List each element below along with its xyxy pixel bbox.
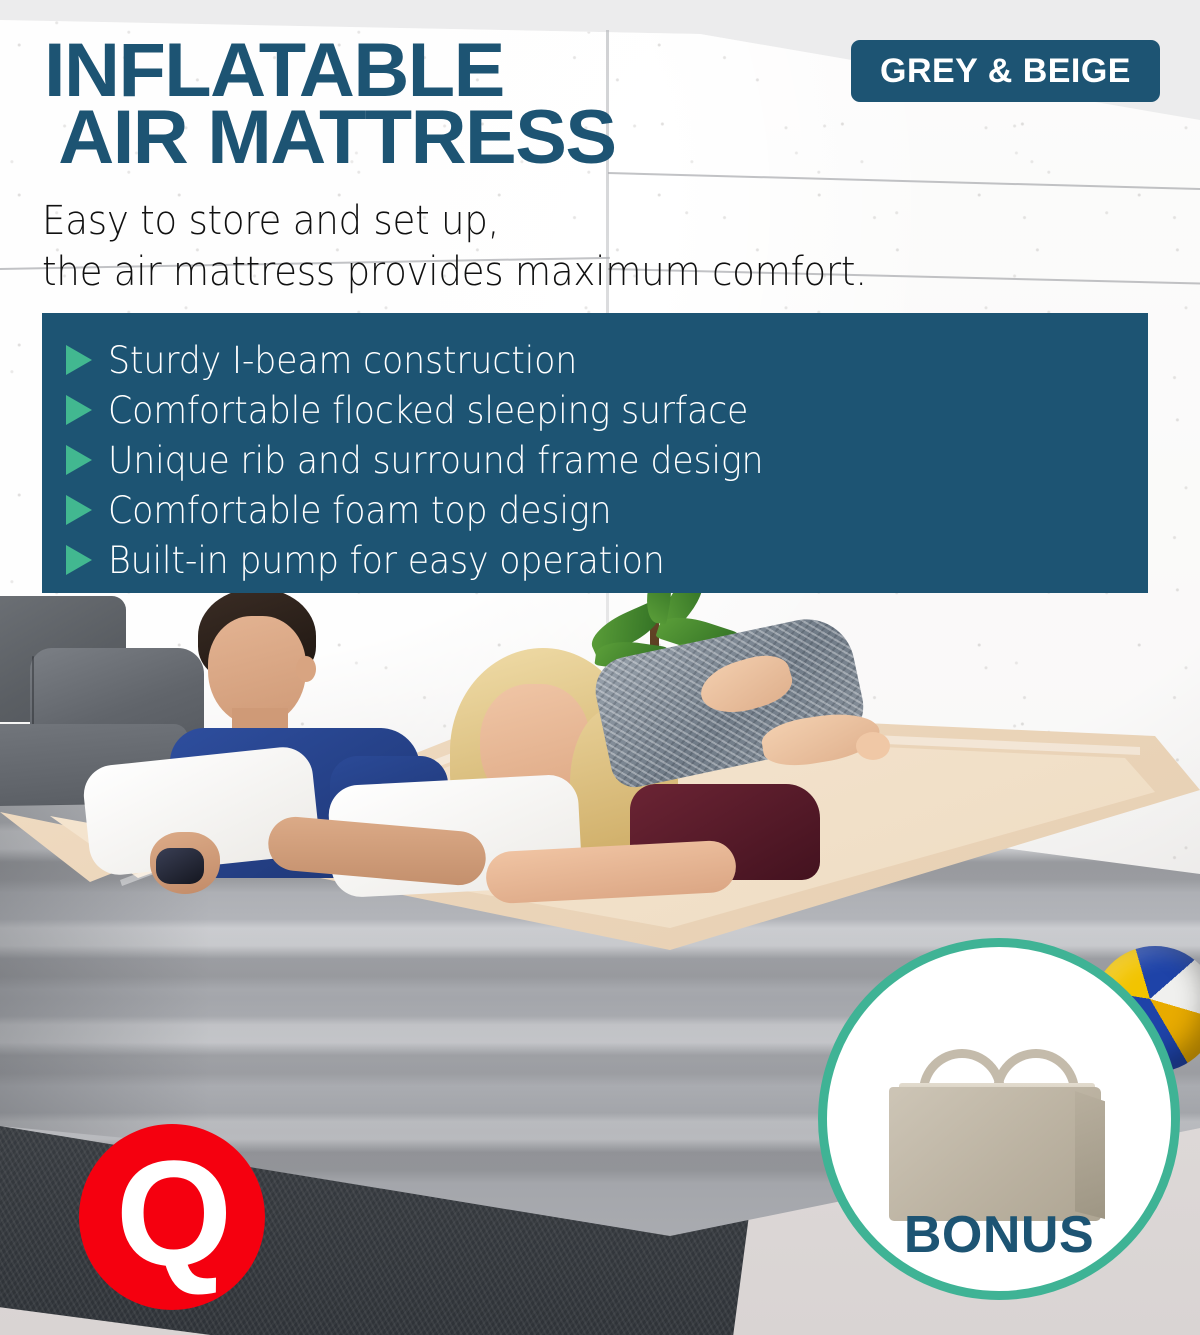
title-line-2: AIR MATTRESS (44, 105, 799, 172)
tote-body (889, 1087, 1101, 1221)
tote-bag (889, 1051, 1107, 1221)
triangle-bullet-icon (66, 445, 92, 475)
subtitle-line-2: the air mattress provides maximum comfor… (42, 247, 981, 298)
feature-item: Comfortable flocked sleeping surface (66, 385, 1148, 435)
subtitle-line-1: Easy to store and set up, (42, 196, 981, 247)
triangle-bullet-icon (66, 495, 92, 525)
feature-label: Comfortable foam top design (108, 492, 611, 529)
bonus-badge[interactable]: BONUS (818, 938, 1180, 1300)
triangle-bullet-icon (66, 395, 92, 425)
triangle-bullet-icon (66, 345, 92, 375)
feature-label: Unique rib and surround frame design (108, 442, 763, 479)
remote-control (156, 848, 204, 884)
brand-logo[interactable]: Q (79, 1124, 265, 1310)
color-variant-label: GREY & BEIGE (880, 52, 1131, 91)
feature-item: Built-in pump for easy operation (66, 535, 1148, 585)
toes (856, 732, 890, 760)
feature-label: Comfortable flocked sleeping surface (108, 392, 748, 429)
advertisement-banner: INFLATABLE AIR MATTRESS Easy to store an… (0, 0, 1200, 1335)
feature-item: Sturdy I-beam construction (66, 335, 1148, 385)
brand-logo-letter: Q (116, 1138, 229, 1288)
page-title: INFLATABLE AIR MATTRESS (44, 38, 799, 172)
man-ear (296, 656, 316, 682)
color-variant-badge[interactable]: GREY & BEIGE (851, 40, 1160, 102)
feature-label: Sturdy I-beam construction (108, 342, 577, 379)
triangle-bullet-icon (66, 545, 92, 575)
tote-side-gusset (1075, 1091, 1105, 1219)
feature-item: Unique rib and surround frame design (66, 435, 1148, 485)
feature-list-panel: Sturdy I-beam construction Comfortable f… (42, 313, 1148, 593)
bonus-label: BONUS (827, 1205, 1171, 1265)
feature-label: Built-in pump for easy operation (108, 542, 665, 579)
feature-item: Comfortable foam top design (66, 485, 1148, 535)
subtitle: Easy to store and set up, the air mattre… (42, 196, 981, 298)
